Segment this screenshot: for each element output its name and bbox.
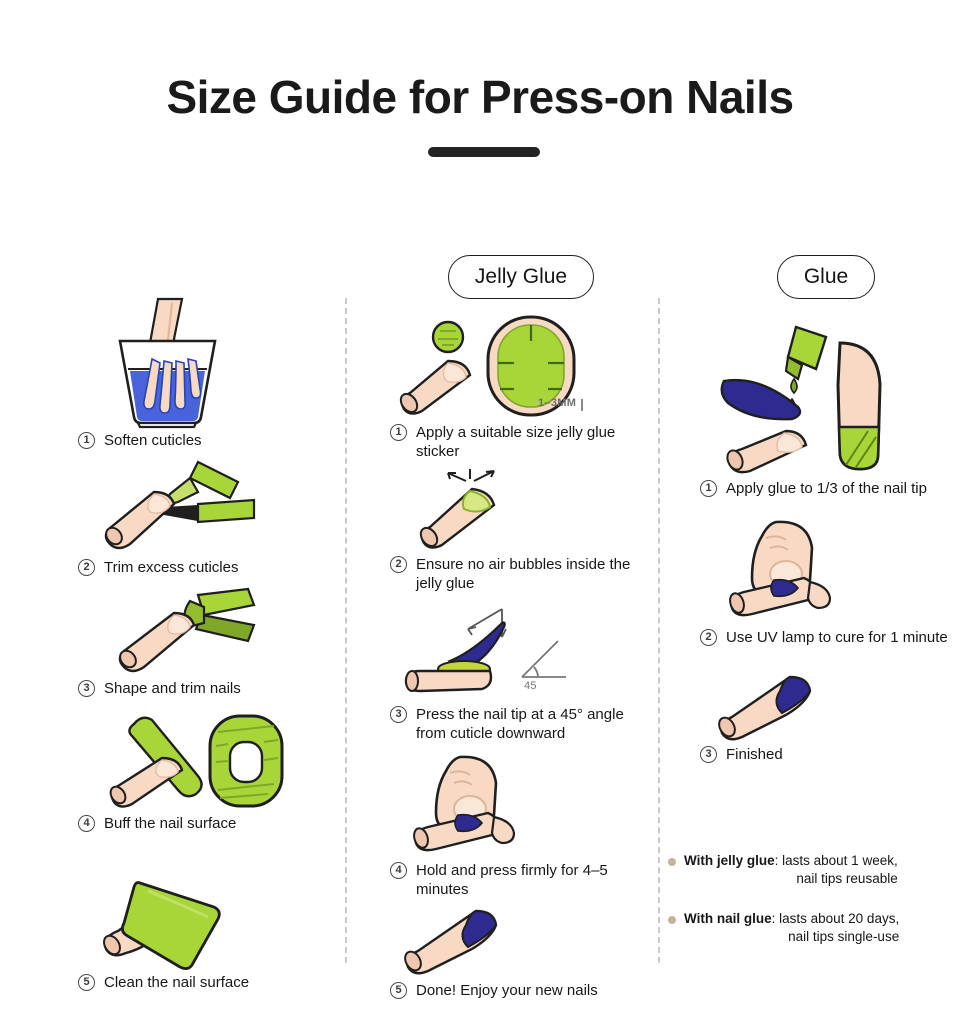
bullet-dot-icon [668, 916, 676, 924]
note-nail-glue-body: With nail glue: lasts about 20 days, nai… [684, 910, 899, 946]
note-nail-glue-line2: nail tips single-use [684, 928, 899, 946]
step-jelly-2-caption: 2 Ensure no air bubbles inside the jelly… [390, 555, 652, 593]
jelly-glue-sticker-on-nail-icon: 1–3MM [390, 311, 652, 419]
step-jelly-5: 5 Done! Enjoy your new nails [390, 907, 652, 1000]
column-glue: Glue [700, 255, 952, 764]
step-glue-1-caption: 1 Apply glue to 1/3 of the nail tip [700, 479, 952, 498]
step-prep-5-caption: 5 Clean the nail surface [78, 973, 338, 992]
step-label: Apply glue to 1/3 of the nail tip [726, 479, 952, 498]
note-nail-glue: With nail glue: lasts about 20 days, nai… [668, 910, 953, 946]
step-glue-1: 1 Apply glue to 1/3 of the nail tip [700, 323, 952, 498]
step-prep-3-caption: 3 Shape and trim nails [78, 679, 338, 698]
angle-45-label: 45 [524, 680, 537, 692]
step-jelly-4: 4 Hold and press firmly for 4–5 minutes [390, 753, 652, 899]
jelly-glue-badge: Jelly Glue [448, 255, 594, 299]
note-nail-glue-line1: : lasts about 20 days, [772, 911, 900, 926]
finished-nail-icon [700, 673, 952, 743]
step-number-badge: 5 [390, 982, 407, 999]
note-jelly-glue-label: With jelly glue [684, 853, 775, 868]
step-label: Buff the nail surface [104, 814, 338, 833]
step-prep-1-caption: 1 Soften cuticles [78, 431, 338, 450]
step-label: Use UV lamp to cure for 1 minute [726, 628, 952, 647]
step-number-badge: 1 [78, 432, 95, 449]
step-jelly-3-caption: 3 Press the nail tip at a 45° angle from… [390, 705, 652, 743]
press-at-45-degrees-icon: 45 [390, 601, 652, 701]
durability-notes: With jelly glue: lasts about 1 week, nai… [668, 852, 953, 968]
step-number-badge: 2 [390, 556, 407, 573]
step-label: Finished [726, 745, 952, 764]
step-number-badge: 2 [700, 629, 717, 646]
glue-bottle-and-nail-tip-icon [700, 323, 952, 475]
step-jelly-1: 1–3MM 1 Apply a suitable size jelly glue… [390, 311, 652, 461]
step-label: Trim excess cuticles [104, 558, 338, 577]
nail-gap-measurement-label: 1–3MM [538, 397, 576, 409]
press-finger-on-nail-icon [700, 520, 952, 624]
column-preparation: 1 Soften cuticles [78, 255, 338, 992]
step-number-badge: 1 [700, 480, 717, 497]
step-prep-2: 2 Trim excess cuticles [78, 456, 338, 577]
step-number-badge: 4 [390, 862, 407, 879]
step-label: Press the nail tip at a 45° angle from c… [416, 705, 652, 743]
step-label: Clean the nail surface [104, 973, 338, 992]
prep-badge-spacer [78, 255, 338, 299]
step-glue-2: 2 Use UV lamp to cure for 1 minute [700, 520, 952, 647]
glue-badge-wrap: Glue [700, 255, 952, 299]
column-divider-left [345, 298, 347, 963]
note-jelly-glue: With jelly glue: lasts about 1 week, nai… [668, 852, 953, 888]
step-label: Done! Enjoy your new nails [416, 981, 652, 1000]
note-jelly-glue-line2: nail tips reusable [684, 870, 898, 888]
hold-and-press-finger-icon [390, 753, 652, 857]
step-glue-3-caption: 3 Finished [700, 745, 952, 764]
step-prep-2-caption: 2 Trim excess cuticles [78, 558, 338, 577]
cuticle-pusher-and-nipper-icon [78, 456, 338, 556]
step-jelly-1-caption: 1 Apply a suitable size jelly glue stick… [390, 423, 652, 461]
title-underline-rule [428, 147, 540, 157]
note-nail-glue-label: With nail glue [684, 911, 772, 926]
step-prep-1: 1 Soften cuticles [78, 299, 338, 450]
step-number-badge: 4 [78, 815, 95, 832]
size-guide-page: Size Guide for Press-on Nails [0, 0, 960, 1034]
step-prep-4-caption: 4 Buff the nail surface [78, 814, 338, 833]
finished-nail-icon [390, 907, 652, 979]
step-label: Shape and trim nails [104, 679, 338, 698]
nail-file-and-buffer-icon [78, 706, 338, 812]
step-prep-4: 4 Buff the nail surface [78, 706, 338, 833]
step-number-badge: 1 [390, 424, 407, 441]
jelly-glue-badge-wrap: Jelly Glue [390, 255, 652, 299]
step-prep-5: 5 Clean the nail surface [78, 871, 338, 992]
finger-with-sticker-icon [390, 467, 652, 553]
glue-badge: Glue [777, 255, 875, 299]
step-number-badge: 3 [700, 746, 717, 763]
step-label: Soften cuticles [104, 431, 338, 450]
step-prep-3: 3 Shape and trim nails [78, 585, 338, 698]
nail-clipper-icon [78, 585, 338, 677]
step-label: Hold and press firmly for 4–5 minutes [416, 861, 652, 899]
step-jelly-3: 45 3 Press the nail tip at a 45° angle f… [390, 601, 652, 743]
column-divider-right [658, 298, 660, 963]
hand-in-water-bowl-icon [78, 299, 338, 427]
bullet-dot-icon [668, 858, 676, 866]
step-glue-3: 3 Finished [700, 673, 952, 764]
note-jelly-glue-body: With jelly glue: lasts about 1 week, nai… [684, 852, 898, 888]
page-title: Size Guide for Press-on Nails [0, 70, 960, 124]
alcohol-wipe-icon [78, 871, 338, 971]
step-label: Apply a suitable size jelly glue sticker [416, 423, 652, 461]
note-jelly-glue-line1: : lasts about 1 week, [775, 853, 898, 868]
step-number-badge: 3 [78, 680, 95, 697]
step-number-badge: 2 [78, 559, 95, 576]
step-label: Ensure no air bubbles inside the jelly g… [416, 555, 652, 593]
step-jelly-2: 2 Ensure no air bubbles inside the jelly… [390, 467, 652, 593]
step-number-badge: 3 [390, 706, 407, 723]
step-jelly-4-caption: 4 Hold and press firmly for 4–5 minutes [390, 861, 652, 899]
step-jelly-5-caption: 5 Done! Enjoy your new nails [390, 981, 652, 1000]
step-number-badge: 5 [78, 974, 95, 991]
step-glue-2-caption: 2 Use UV lamp to cure for 1 minute [700, 628, 952, 647]
column-jelly-glue: Jelly Glue [390, 255, 652, 1000]
